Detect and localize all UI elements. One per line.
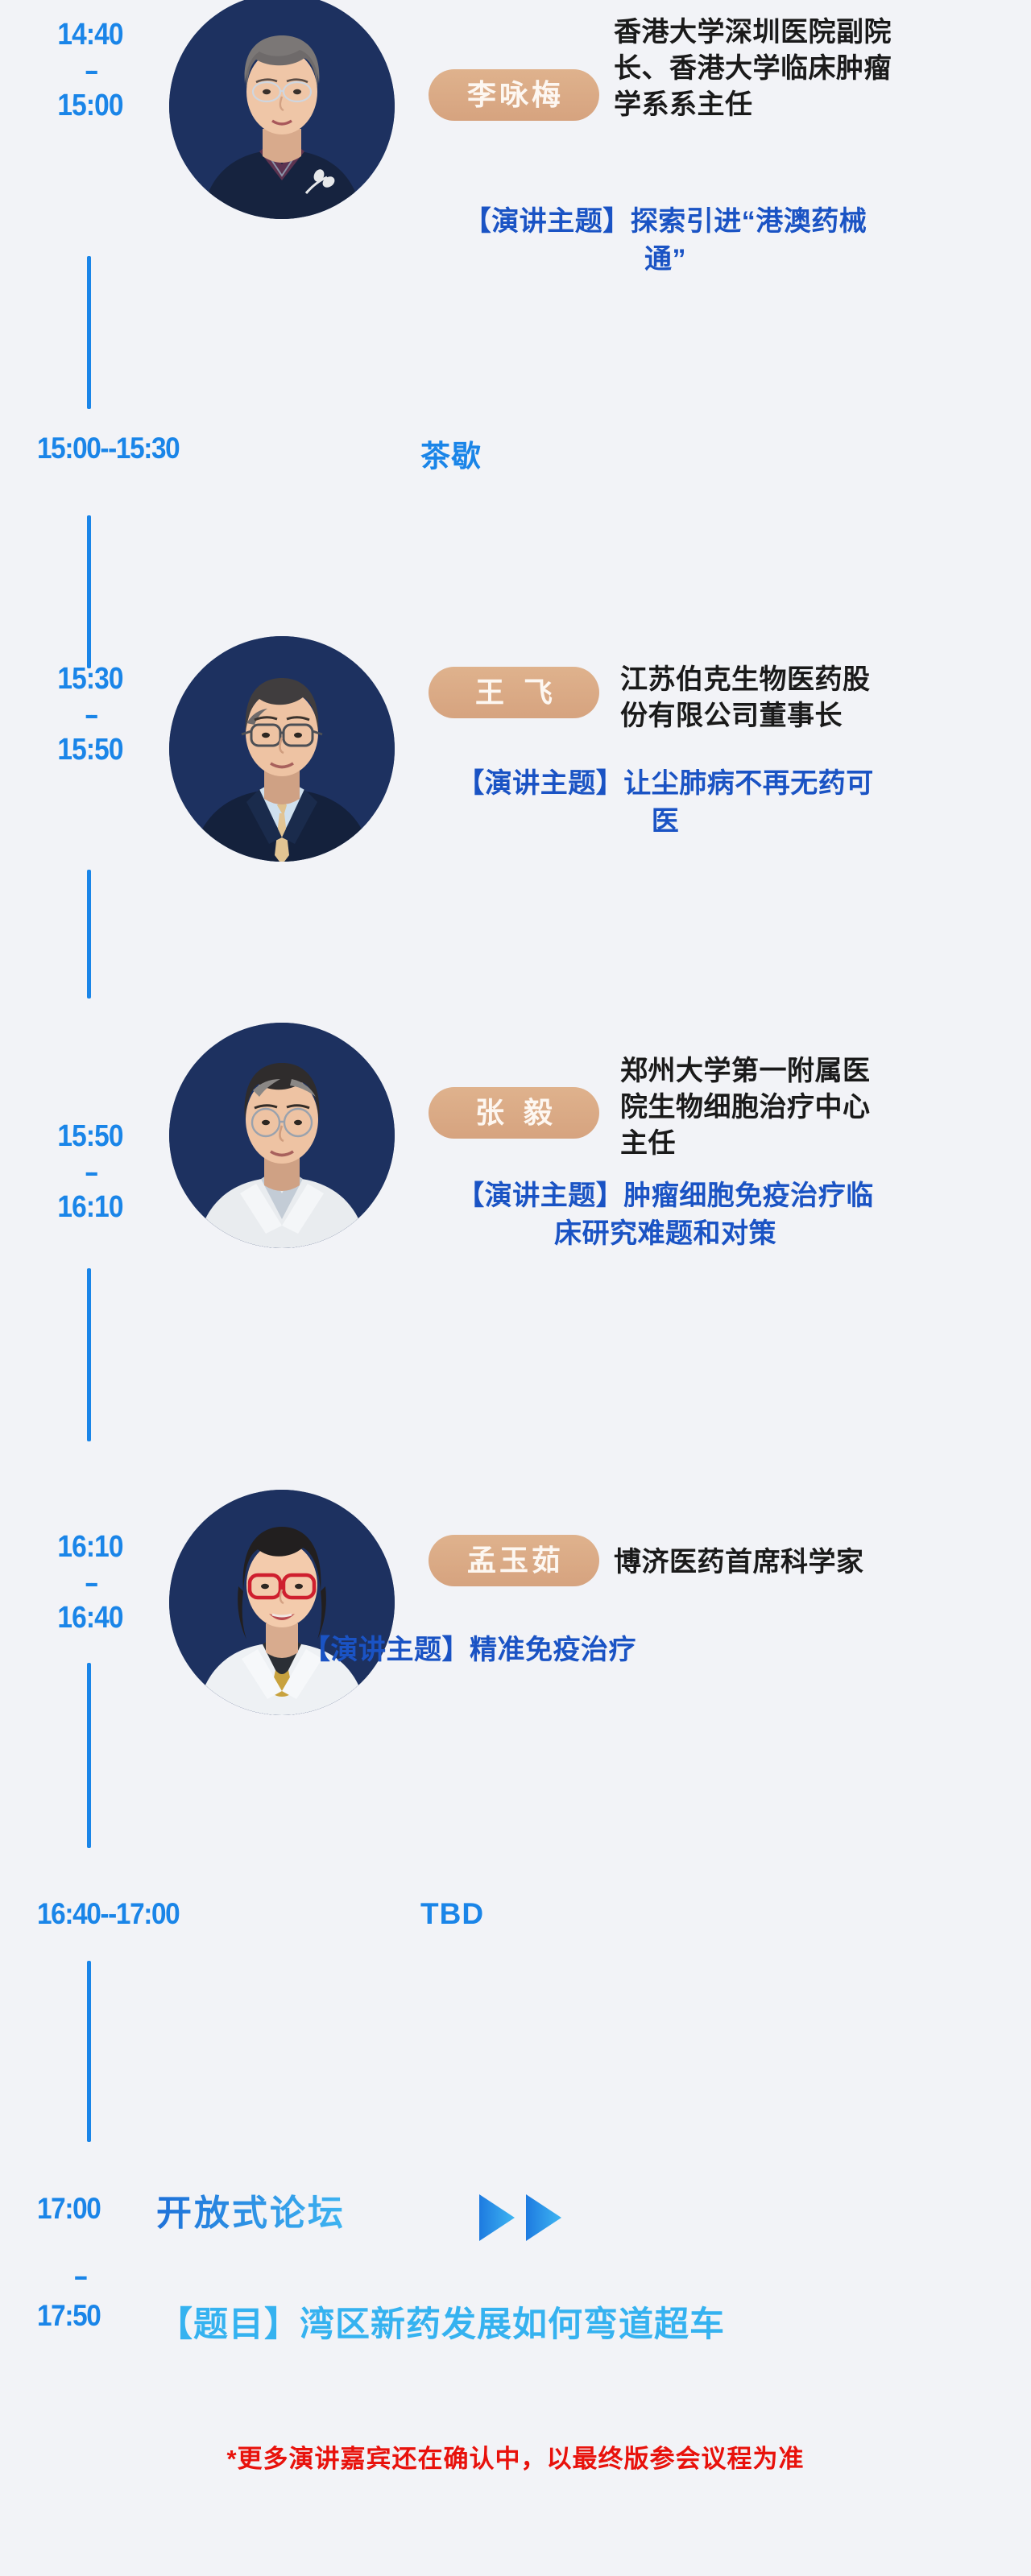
timeline-connector [87, 515, 91, 668]
footnote: *更多演讲嘉宾还在确认中，以最终版参会议程为准 [0, 2438, 1031, 2475]
time-end: 16:10 [57, 1190, 122, 1224]
speaker-name: 张毅 [475, 1096, 572, 1129]
affiliation-line: 份有限公司董事长 [620, 698, 999, 734]
time-start: 15:50 [57, 1119, 122, 1153]
affiliation-line: 主任 [620, 1126, 999, 1162]
avatar [169, 0, 395, 219]
affiliation-line: 院生物细胞治疗中心 [620, 1090, 999, 1126]
forum-subject: 【题目】湾区新药发展如何弯道超车 [158, 2297, 725, 2347]
topic-line: 通” [303, 241, 1028, 279]
time-end: 15:00 [57, 89, 122, 122]
topic-line: 床研究难题和对策 [303, 1215, 1028, 1253]
portrait-meng-yuru [169, 1490, 395, 1715]
double-right-arrow-icon [477, 2193, 564, 2243]
speaker-name-badge: 李咏梅 [429, 69, 599, 121]
timeline-connector [87, 1961, 91, 2142]
break-time: 15:00--15:30 [37, 432, 179, 465]
agenda-page: 14:40 -- 15:00 李咏梅 香港大学深圳医院副院 长、香港大学临床肿瘤… [0, 0, 1031, 2576]
time-dash: -- [10, 1565, 169, 1601]
affiliation-line: 长、香港大学临床肿瘤 [614, 51, 992, 87]
speaker-name-badge: 孟玉茹 [429, 1535, 599, 1586]
time-dash: -- [10, 697, 169, 733]
time-end: 16:40 [57, 1601, 122, 1635]
timeline-connector [87, 1268, 91, 1441]
break-time: 16:40--17:00 [37, 1897, 179, 1931]
speaker-name: 孟玉茹 [467, 1544, 564, 1577]
forum-time-dash: -- [74, 2261, 85, 2293]
agenda-time: 15:30 -- 15:50 [10, 662, 169, 768]
speaker-affiliation: 香港大学深圳医院副院 长、香港大学临床肿瘤 学系系主任 [614, 14, 992, 123]
avatar [169, 1490, 395, 1715]
speaker-topic: 【演讲主题】让尘肺病不再无药可 医 [303, 765, 1028, 841]
speaker-affiliation: 博济医药首席科学家 [614, 1544, 1000, 1581]
time-start: 16:10 [57, 1530, 122, 1564]
speaker-topic: 【演讲主题】精准免疫治疗 [303, 1631, 1028, 1669]
speaker-name: 王飞 [475, 676, 572, 709]
speaker-topic: 【演讲主题】肿瘤细胞免疫治疗临 床研究难题和对策 [303, 1177, 1028, 1253]
time-start: 14:40 [57, 18, 122, 52]
time-start: 15:30 [57, 662, 122, 696]
affiliation-line: 郑州大学第一附属医 [620, 1053, 999, 1090]
forum-end-time: 17:50 [37, 2299, 100, 2333]
timeline-connector [87, 1663, 91, 1848]
speaker-affiliation: 郑州大学第一附属医 院生物细胞治疗中心 主任 [620, 1053, 999, 1162]
speaker-name-badge: 王飞 [429, 667, 599, 718]
time-end: 15:50 [57, 733, 122, 767]
speaker-name-badge: 张毅 [429, 1087, 599, 1139]
agenda-time: 14:40 -- 15:00 [10, 18, 169, 124]
affiliation-line: 江苏伯克生物医药股 [620, 662, 999, 698]
affiliation-line: 学系系主任 [614, 87, 992, 123]
forum-title: 开放式论坛 [156, 2184, 346, 2235]
agenda-time: 15:50 -- 16:10 [10, 1119, 169, 1226]
agenda-time: 16:10 -- 16:40 [10, 1530, 169, 1636]
topic-line: 【演讲主题】肿瘤细胞免疫治疗临 [303, 1177, 1028, 1215]
portrait-li-yongmei [169, 0, 395, 219]
timeline-connector [87, 256, 91, 409]
topic-line: 【演讲主题】精准免疫治疗 [303, 1631, 1028, 1669]
speaker-name: 李咏梅 [467, 78, 564, 111]
right-arrow-icon [524, 2193, 564, 2243]
speaker-topic: 【演讲主题】探索引进“港澳药械 通” [303, 203, 1028, 279]
time-dash: -- [10, 53, 169, 89]
timeline-connector [87, 870, 91, 999]
affiliation-line: 香港大学深圳医院副院 [614, 14, 992, 51]
forum-start-time: 17:00 [37, 2192, 100, 2226]
topic-line: 医 [303, 803, 1028, 841]
topic-line: 【演讲主题】探索引进“港澳药械 [303, 203, 1028, 241]
topic-line: 【演讲主题】让尘肺病不再无药可 [303, 765, 1028, 803]
break-label: TBD [420, 1897, 484, 1931]
right-arrow-icon [477, 2193, 517, 2243]
break-label: 茶歇 [420, 432, 482, 475]
affiliation-line: 博济医药首席科学家 [614, 1544, 1000, 1581]
time-dash: -- [10, 1155, 169, 1190]
speaker-affiliation: 江苏伯克生物医药股 份有限公司董事长 [620, 662, 999, 734]
